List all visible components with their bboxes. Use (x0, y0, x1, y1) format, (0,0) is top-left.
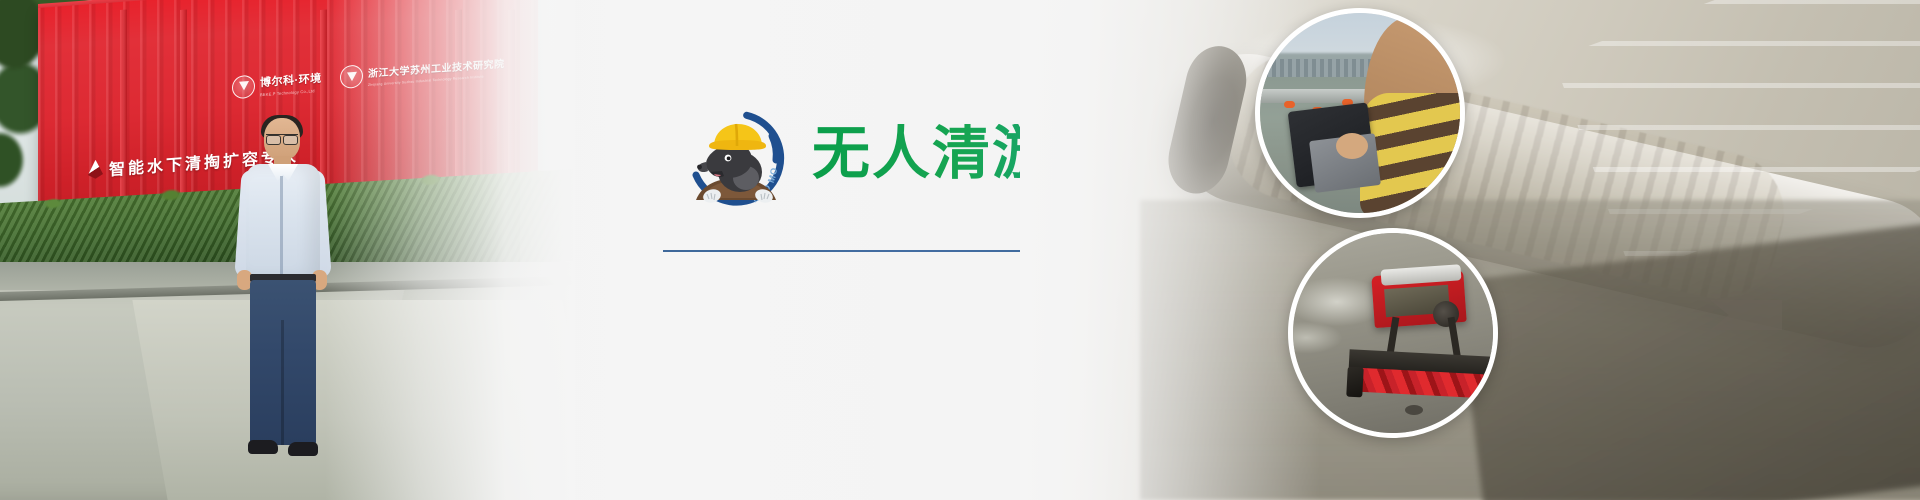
engineer-figure (228, 118, 338, 473)
dredging-robot-photo (1288, 228, 1498, 438)
debris-rock (1405, 405, 1423, 415)
engineer-and-container-photo: 博尔科·环境 BEKE.P Technology Co.,Ltd 浙江大学苏州工… (0, 0, 575, 500)
operator-with-control-case-photo (1255, 8, 1465, 218)
auger-end-cap (1346, 367, 1364, 398)
mud-mole-logo: MUD MOLE (676, 106, 796, 214)
left-shoe (248, 440, 278, 454)
jeans (250, 280, 316, 445)
shirt (246, 164, 320, 279)
operator-hand (1336, 133, 1368, 159)
right-shoe (288, 442, 318, 456)
shirt-placket (280, 176, 283, 276)
shield-icon (232, 74, 255, 99)
container-logo-primary-name: 博尔科·环境 (260, 73, 322, 90)
glasses-icon (266, 134, 298, 143)
hero-banner: 博尔科·环境 BEKE.P Technology Co.,Ltd 浙江大学苏州工… (0, 0, 1920, 500)
orange-float (1284, 101, 1295, 108)
slogan-mark-icon (88, 159, 103, 179)
